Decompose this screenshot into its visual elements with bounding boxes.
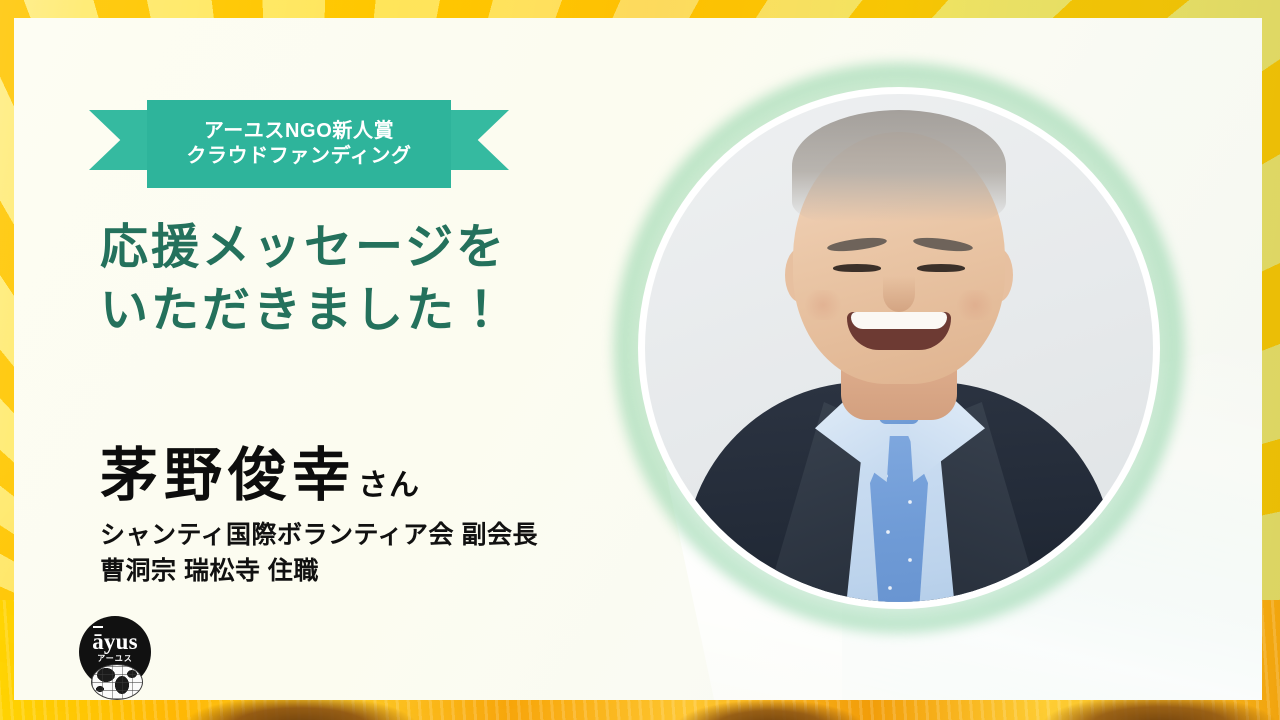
ribbon-panel: アーユスNGO新人賞 クラウドファンディング	[147, 100, 451, 188]
headline-line-1: 応援メッセージを	[100, 216, 508, 279]
portrait-hair	[792, 110, 1006, 222]
content-card: アーユスNGO新人賞 クラウドファンディング 応援メッセージを いただきました！…	[14, 18, 1262, 700]
person-name-honorific: さん	[358, 460, 420, 504]
person-role: シャンティ国際ボランティア会 副会長 曹洞宗 瑞松寺 住職	[100, 517, 538, 590]
portrait-nose	[883, 276, 915, 312]
ribbon-line-1: アーユスNGO新人賞	[204, 120, 394, 143]
person-info: 茅野俊幸 さん シャンティ国際ボランティア会 副会長 曹洞宗 瑞松寺 住職	[100, 446, 538, 589]
person-name: 茅野俊幸 さん	[100, 446, 538, 507]
portrait-photo	[645, 94, 1153, 602]
headline: 応援メッセージを いただきました！	[100, 216, 508, 343]
logo-kana: アーユス	[79, 655, 151, 663]
portrait-teeth	[851, 312, 947, 329]
person-role-line-2: 曹洞宗 瑞松寺 住職	[100, 553, 538, 589]
slide-canvas: アーユスNGO新人賞 クラウドファンディング 応援メッセージを いただきました！…	[0, 0, 1280, 720]
portrait-cheek-left	[801, 290, 845, 320]
person-role-line-1: シャンティ国際ボランティア会 副会長	[100, 517, 538, 553]
portrait-frame	[638, 87, 1160, 609]
portrait-eye-right	[917, 264, 965, 272]
logo-wordmark-rest: yus	[104, 629, 138, 654]
person-name-kanji: 茅野俊幸	[100, 446, 356, 507]
ayus-logo: āyus アーユス	[71, 616, 159, 700]
portrait-cheek-right	[953, 290, 997, 320]
globe-icon	[91, 664, 143, 700]
portrait-eye-left	[833, 264, 881, 272]
logo-wordmark: āyus	[79, 630, 151, 653]
logo-wordmark-a: ā	[92, 630, 104, 653]
campaign-ribbon: アーユスNGO新人賞 クラウドファンディング	[89, 100, 509, 180]
headline-line-2: いただきました！	[100, 279, 508, 342]
portrait-mouth	[847, 312, 951, 350]
ribbon-line-2: クラウドファンディング	[186, 145, 411, 168]
